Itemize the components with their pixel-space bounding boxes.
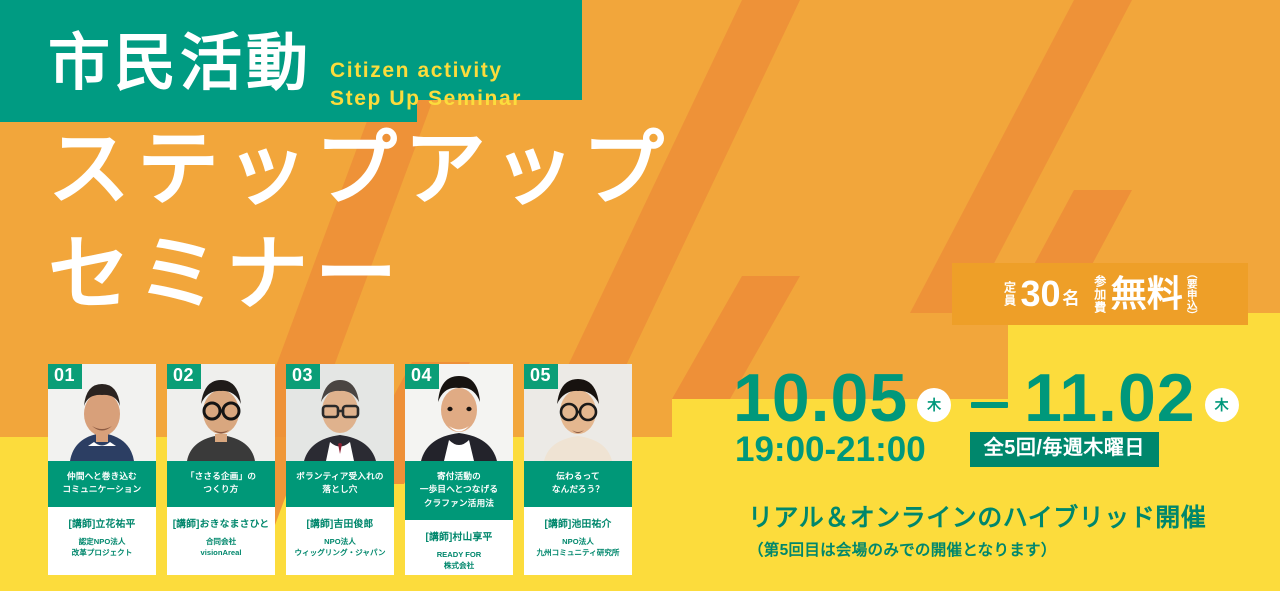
capacity-group: 定員 30 名: [1003, 276, 1079, 312]
speaker-org-line-1: NPO法人: [286, 536, 394, 547]
capacity-label: 定員: [1003, 281, 1015, 307]
card-number-badge: 01: [48, 364, 82, 389]
card-number-badge: 03: [286, 364, 320, 389]
speaker-card[interactable]: 01 仲間へと巻き込む コミュニケーション [講師]立花祐平 認定NPO法人 改…: [48, 364, 156, 575]
speaker-org-line-2: ウィッグリング・ジャパン: [286, 547, 394, 558]
footer-sub-text: （第5回目は会場のみでの開催となります）: [748, 538, 1206, 560]
main-title-line-1: ステップアップ: [48, 118, 671, 223]
start-dayofweek-badge: 木: [917, 388, 951, 422]
speaker-org-line-2: visionAreal: [167, 547, 275, 558]
schedule-date-range: 10.05 木 11.02 木: [733, 364, 1239, 432]
subtitle-line-1: Citizen activity: [330, 57, 522, 85]
speaker-org: NPO法人 九州コミュニティ研究所: [524, 536, 632, 559]
card-topic-line-2: 落とし穴: [290, 483, 390, 496]
card-meta: [講師]池田祐介 NPO法人 九州コミュニティ研究所: [524, 507, 632, 575]
frequency-badge: 全5回/毎週木曜日: [970, 432, 1159, 467]
schedule-time-row: 19:00-21:00 全5回/毎週木曜日: [735, 432, 1159, 467]
speaker-org: READY FOR 株式会社: [405, 549, 513, 572]
fee-badge: 定員 30 名 参加費 無料 （要申込）: [952, 263, 1248, 325]
speaker-org: NPO法人 ウィッグリング・ジャパン: [286, 536, 394, 559]
main-title-line-2: セミナー: [48, 223, 671, 328]
speaker-card[interactable]: 03 ボランティア受入れの 落とし穴 [講師]吉田俊郎: [286, 364, 394, 575]
start-date: 10.05: [733, 364, 908, 432]
card-number-badge: 02: [167, 364, 201, 389]
card-meta: [講師]立花祐平 認定NPO法人 改革プロジェクト: [48, 507, 156, 575]
fee-group: 参加費 無料 （要申込）: [1094, 268, 1197, 321]
card-topic-line-1: 「ささる企画」の: [171, 470, 271, 483]
card-topic-line-1: 寄付活動の: [409, 470, 509, 483]
fee-label: 参加費: [1094, 275, 1106, 314]
speaker-card[interactable]: 02 「ささる企画」の つくり方 [講師]おきなまさひと 合同会社: [167, 364, 275, 575]
card-topic: 寄付活動の 一歩目へとつなげる クラファン活用法: [405, 461, 513, 520]
end-dayofweek-badge: 木: [1205, 388, 1239, 422]
speaker-name: [講師]おきなまさひと: [167, 516, 275, 530]
footer-main-text: リアル＆オンラインのハイブリッド開催: [748, 504, 1206, 534]
subtitle-line-2: Step Up Seminar: [330, 85, 522, 113]
speaker-org-line-1: NPO法人: [524, 536, 632, 547]
date-range-dash-icon: [971, 402, 1008, 408]
speaker-name: [講師]村山享平: [405, 529, 513, 543]
card-number-badge: 05: [524, 364, 558, 389]
speaker-org: 合同会社 visionAreal: [167, 536, 275, 559]
card-number-badge: 04: [405, 364, 439, 389]
speaker-card[interactable]: 05 伝わるって なんだろう？ [講師]池田祐介 NPO法人 九州コミ: [524, 364, 632, 575]
fee-value: 無料: [1111, 276, 1183, 312]
card-topic: 仲間へと巻き込む コミュニケーション: [48, 461, 156, 507]
speaker-card-list: 01 仲間へと巻き込む コミュニケーション [講師]立花祐平 認定NPO法人 改…: [48, 364, 632, 575]
speaker-org-line-2: 株式会社: [405, 560, 513, 571]
capacity-unit: 名: [1063, 284, 1080, 309]
capacity-value: 30: [1020, 276, 1060, 312]
card-topic-line-3: クラファン活用法: [409, 497, 509, 510]
card-meta: [講師]吉田俊郎 NPO法人 ウィッグリング・ジャパン: [286, 507, 394, 575]
speaker-org-line-1: 合同会社: [167, 536, 275, 547]
speaker-name: [講師]池田祐介: [524, 516, 632, 530]
card-topic-line-2: コミュニケーション: [52, 483, 152, 496]
footer-note: リアル＆オンラインのハイブリッド開催 （第5回目は会場のみでの開催となります）: [748, 504, 1206, 560]
main-title: ステップアップ セミナー: [48, 118, 671, 328]
card-meta: [講師]おきなまさひと 合同会社 visionAreal: [167, 507, 275, 575]
speaker-org-line-2: 改革プロジェクト: [48, 547, 156, 558]
card-topic-line-1: 伝わるって: [528, 470, 628, 483]
card-topic: ボランティア受入れの 落とし穴: [286, 461, 394, 507]
card-meta: [講師]村山享平 READY FOR 株式会社: [405, 520, 513, 575]
card-topic-line-2: 一歩目へとつなげる: [409, 483, 509, 496]
card-topic-line-2: つくり方: [171, 483, 271, 496]
speaker-name: [講師]立花祐平: [48, 516, 156, 530]
card-topic-line-2: なんだろう？: [528, 483, 628, 496]
end-date: 11.02: [1024, 364, 1195, 432]
fee-note: （要申込）: [1186, 268, 1197, 321]
speaker-card[interactable]: 04 寄付活動の 一歩目へとつなげる クラファン活用法 [講師]村山享平 REA…: [405, 364, 513, 575]
speaker-org-line-1: READY FOR: [405, 549, 513, 560]
page-subtitle-en: Citizen activity Step Up Seminar: [330, 57, 522, 112]
page-title: 市民活動: [48, 33, 312, 95]
card-topic: 「ささる企画」の つくり方: [167, 461, 275, 507]
card-topic: 伝わるって なんだろう？: [524, 461, 632, 507]
session-time: 19:00-21:00: [735, 432, 926, 467]
card-topic-line-1: ボランティア受入れの: [290, 470, 390, 483]
card-topic-line-1: 仲間へと巻き込む: [52, 470, 152, 483]
speaker-name: [講師]吉田俊郎: [286, 516, 394, 530]
speaker-org-line-1: 認定NPO法人: [48, 536, 156, 547]
speaker-org-line-2: 九州コミュニティ研究所: [524, 547, 632, 558]
speaker-org: 認定NPO法人 改革プロジェクト: [48, 536, 156, 559]
